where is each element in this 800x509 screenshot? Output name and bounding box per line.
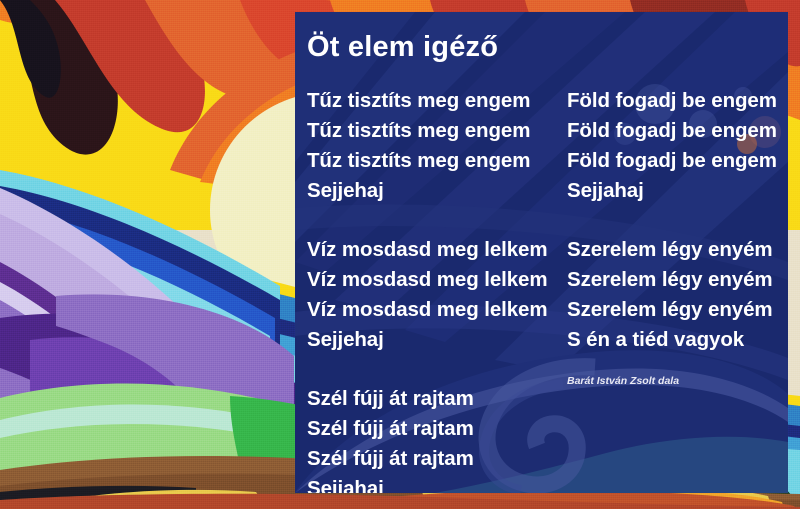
lyric-line: Föld fogadj be engem — [567, 146, 788, 176]
stanza-love: Szerelem légy enyém Szerelem légy enyém … — [567, 235, 788, 355]
stanza-earth: Föld fogadj be engem Föld fogadj be enge… — [567, 86, 788, 206]
lyric-line: Föld fogadj be engem — [567, 86, 788, 116]
lyric-line: Szél fújj át rajtam — [307, 414, 572, 444]
lyric-line: Tűz tisztíts meg engem — [307, 86, 572, 116]
page-title: Öt elem igéző — [307, 31, 498, 64]
lyric-line: Föld fogadj be engem — [567, 116, 788, 146]
lyric-line: Tűz tisztíts meg engem — [307, 146, 572, 176]
song-credit: Barát István Zsolt dala — [567, 375, 679, 387]
panel-content: Öt elem igéző Tűz tisztíts meg engem Tűz… — [295, 12, 788, 493]
lyric-line: Víz mosdasd meg lelkem — [307, 295, 572, 325]
lyric-line: Víz mosdasd meg lelkem — [307, 265, 572, 295]
lyrics-column-left: Tűz tisztíts meg engem Tűz tisztíts meg … — [307, 86, 572, 493]
lyric-line: Sejjahaj — [567, 176, 788, 206]
lyric-line: Tűz tisztíts meg engem — [307, 116, 572, 146]
lyrics-panel: Öt elem igéző Tűz tisztíts meg engem Tűz… — [295, 12, 788, 493]
lyric-line: Víz mosdasd meg lelkem — [307, 235, 572, 265]
lyrics-column-right: Föld fogadj be engem Föld fogadj be enge… — [567, 86, 788, 355]
lyric-line: Szél fújj át rajtam — [307, 384, 572, 414]
lyric-line: Szerelem légy enyém — [567, 265, 788, 295]
lyric-line: Szél fújj át rajtam — [307, 444, 572, 474]
lyric-line: Szerelem légy enyém — [567, 295, 788, 325]
lyric-line: Sejjehaj — [307, 176, 572, 206]
stanza-fire: Tűz tisztíts meg engem Tűz tisztíts meg … — [307, 86, 572, 206]
stanza-wind: Szél fújj át rajtam Szél fújj át rajtam … — [307, 384, 572, 493]
lyric-line: S én a tiéd vagyok — [567, 325, 788, 355]
lyric-line: Szerelem légy enyém — [567, 235, 788, 265]
poster-canvas: Öt elem igéző Tűz tisztíts meg engem Tűz… — [0, 0, 800, 509]
lyric-line: Sejjahaj — [307, 474, 572, 493]
stanza-water: Víz mosdasd meg lelkem Víz mosdasd meg l… — [307, 235, 572, 355]
lyric-line: Sejjehaj — [307, 325, 572, 355]
